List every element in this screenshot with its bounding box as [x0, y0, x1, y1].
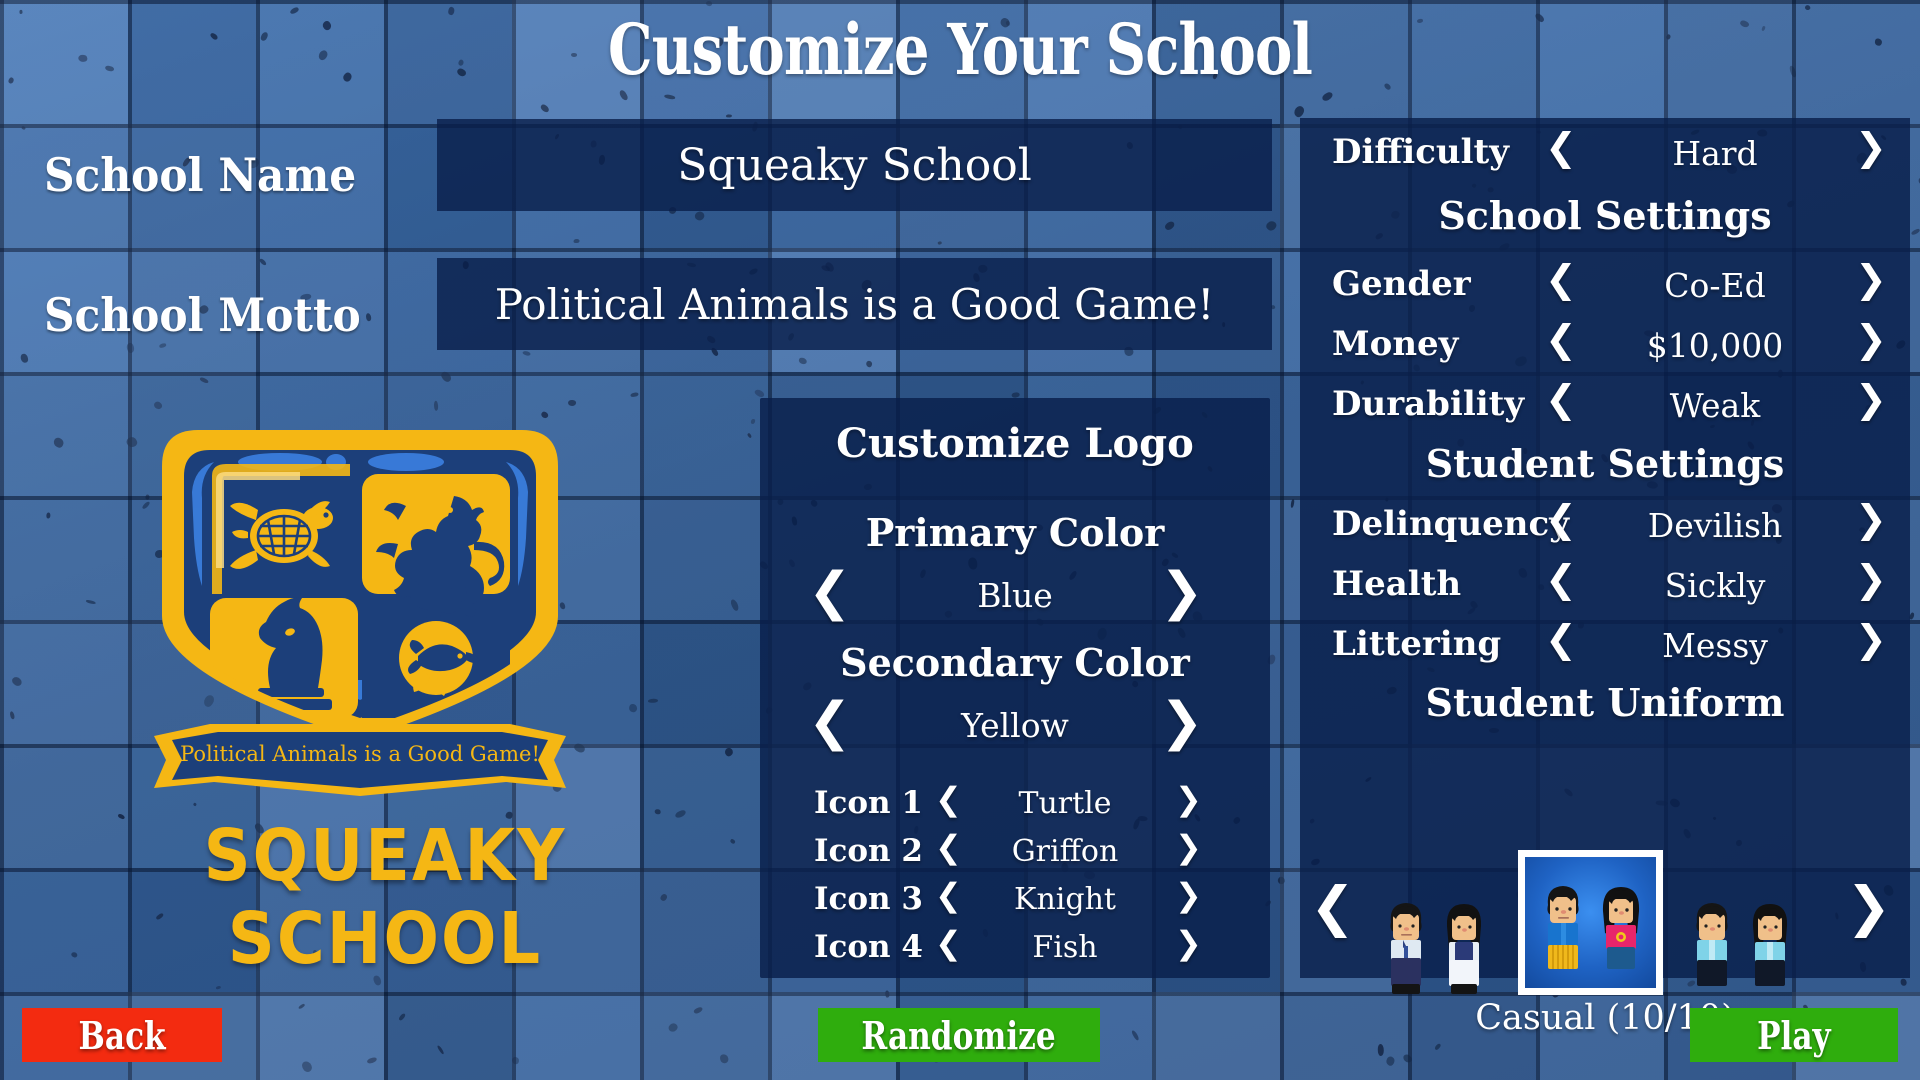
icon-3-prev-arrow[interactable]: ❮ [935, 879, 962, 911]
uniform-selected-girl [1597, 875, 1645, 985]
difficulty-next-arrow[interactable]: ❯ [1855, 128, 1887, 166]
icon-4-value: Fish [970, 930, 1160, 965]
uniform-carousel: ❮ [1300, 836, 1910, 996]
uniform-preview-right-girl[interactable] [1746, 892, 1794, 1002]
uniform-selected-boy [1539, 875, 1587, 985]
delinquency-value: Devilish [1590, 506, 1840, 545]
school-wordmark: SQUEAKY SCHOOL [54, 815, 717, 981]
durability-prev-arrow[interactable]: ❮ [1545, 380, 1577, 418]
difficulty-row: Difficulty ❮ Hard ❯ [1300, 128, 1910, 182]
icon-4-next-arrow[interactable]: ❯ [1175, 927, 1202, 959]
page-title: Customize Your School [192, 8, 1728, 91]
littering-prev-arrow[interactable]: ❮ [1545, 620, 1577, 658]
uniform-selected-tile[interactable] [1518, 850, 1663, 995]
difficulty-prev-arrow[interactable]: ❮ [1545, 128, 1577, 166]
icon-1-value: Turtle [970, 786, 1160, 821]
icon-3-value: Knight [970, 882, 1160, 917]
primary-color-label: Primary Color [760, 510, 1270, 555]
icon-1-row: Icon 1 ❮ Turtle ❯ [760, 783, 1270, 831]
money-prev-arrow[interactable]: ❮ [1545, 320, 1577, 358]
delinquency-next-arrow[interactable]: ❯ [1855, 500, 1887, 538]
back-button[interactable]: Back [22, 1008, 222, 1062]
health-value: Sickly [1590, 566, 1840, 605]
icon-2-next-arrow[interactable]: ❯ [1175, 831, 1202, 863]
school-name-input[interactable]: Squeaky School [437, 119, 1272, 211]
back-button-label: Back [78, 1013, 165, 1058]
difficulty-label: Difficulty [1332, 132, 1509, 172]
littering-value: Messy [1590, 626, 1840, 665]
icon-1-next-arrow[interactable]: ❯ [1175, 783, 1202, 815]
gender-prev-arrow[interactable]: ❮ [1545, 260, 1577, 298]
icon-4-label: Icon 4 [814, 929, 923, 965]
delinquency-prev-arrow[interactable]: ❮ [1545, 500, 1577, 538]
littering-label: Littering [1332, 624, 1501, 664]
school-name-label: School Name [44, 148, 356, 202]
money-value: $10,000 [1590, 326, 1840, 365]
delinquency-label: Delinquency [1332, 504, 1569, 544]
crest-banner: Political Animals is a Good Game! [150, 720, 570, 810]
secondary-color-label: Secondary Color [760, 640, 1270, 685]
durability-row: Durability ❮ Weak ❯ [1300, 380, 1910, 434]
play-button-label: Play [1757, 1013, 1831, 1058]
icon-1-label: Icon 1 [814, 785, 923, 821]
gender-value: Co-Ed [1590, 266, 1840, 305]
icon-2-label: Icon 2 [814, 833, 923, 869]
littering-next-arrow[interactable]: ❯ [1855, 620, 1887, 658]
settings-panel: Difficulty ❮ Hard ❯ School Settings Gend… [1300, 118, 1910, 978]
health-next-arrow[interactable]: ❯ [1855, 560, 1887, 598]
icon-1-prev-arrow[interactable]: ❮ [935, 783, 962, 815]
uniform-preview-left-boy[interactable] [1382, 892, 1430, 1002]
primary-color-next-arrow[interactable]: ❯ [1160, 566, 1204, 618]
durability-value: Weak [1590, 386, 1840, 425]
money-label: Money [1332, 324, 1458, 364]
secondary-color-next-arrow[interactable]: ❯ [1160, 696, 1204, 748]
icon-3-next-arrow[interactable]: ❯ [1175, 879, 1202, 911]
health-label: Health [1332, 564, 1461, 604]
icon-2-row: Icon 2 ❮ Griffon ❯ [760, 831, 1270, 879]
student-uniform-heading: Student Uniform [1300, 680, 1910, 725]
school-motto-input[interactable]: Political Animals is a Good Game! [437, 258, 1272, 350]
icon-4-prev-arrow[interactable]: ❮ [935, 927, 962, 959]
durability-label: Durability [1332, 384, 1524, 424]
school-crest [150, 418, 570, 748]
randomize-button[interactable]: Randomize [818, 1008, 1100, 1062]
icon-2-prev-arrow[interactable]: ❮ [935, 831, 962, 863]
money-next-arrow[interactable]: ❯ [1855, 320, 1887, 358]
gender-next-arrow[interactable]: ❯ [1855, 260, 1887, 298]
delinquency-row: Delinquency ❮ Devilish ❯ [1300, 500, 1910, 554]
gender-label: Gender [1332, 264, 1471, 304]
uniform-next-arrow[interactable]: ❯ [1846, 880, 1891, 934]
customize-logo-panel: Customize Logo Primary Color ❮ Blue ❯ Se… [760, 398, 1270, 978]
icon-2-value: Griffon [970, 834, 1160, 869]
gender-row: Gender ❮ Co-Ed ❯ [1300, 260, 1910, 314]
student-settings-heading: Student Settings [1300, 441, 1910, 486]
icon-4-row: Icon 4 ❮ Fish ❯ [760, 927, 1270, 975]
school-motto-label: School Motto [44, 288, 361, 342]
uniform-preview-right-boy[interactable] [1688, 892, 1736, 1002]
difficulty-value: Hard [1590, 134, 1840, 173]
health-row: Health ❮ Sickly ❯ [1300, 560, 1910, 614]
play-button[interactable]: Play [1690, 1008, 1898, 1062]
customize-logo-heading: Customize Logo [760, 420, 1270, 467]
icon-3-label: Icon 3 [814, 881, 923, 917]
health-prev-arrow[interactable]: ❮ [1545, 560, 1577, 598]
randomize-button-label: Randomize [862, 1013, 1056, 1058]
icon-3-row: Icon 3 ❮ Knight ❯ [760, 879, 1270, 927]
money-row: Money ❮ $10,000 ❯ [1300, 320, 1910, 374]
uniform-prev-arrow[interactable]: ❮ [1310, 880, 1355, 934]
uniform-preview-left-girl[interactable] [1440, 892, 1488, 1002]
durability-next-arrow[interactable]: ❯ [1855, 380, 1887, 418]
littering-row: Littering ❮ Messy ❯ [1300, 620, 1910, 674]
banner-text: Political Animals is a Good Game! [150, 742, 570, 766]
school-settings-heading: School Settings [1300, 193, 1910, 238]
